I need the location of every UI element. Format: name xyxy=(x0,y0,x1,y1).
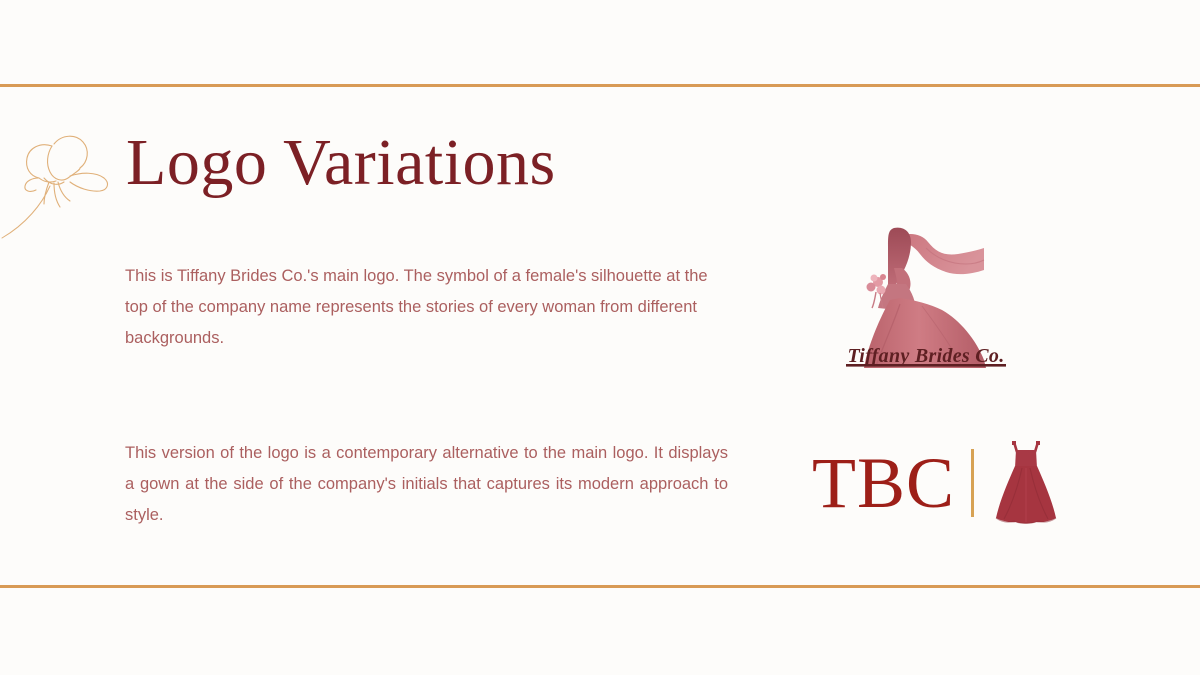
page-title: Logo Variations xyxy=(126,128,556,197)
gown-icon xyxy=(992,438,1060,528)
main-logo: Tiffany Brides Co. xyxy=(838,218,1014,380)
alternate-logo-initials: TBC xyxy=(812,447,955,519)
bottom-accent-rule xyxy=(0,585,1200,588)
top-accent-rule xyxy=(0,84,1200,87)
logo-divider xyxy=(971,449,974,517)
slide-canvas: Logo Variations This is Tiffany Brides C… xyxy=(0,0,1200,675)
description-alternate-logo: This version of the logo is a contempora… xyxy=(125,438,728,531)
main-logo-wordmark: Tiffany Brides Co. xyxy=(838,345,1014,368)
description-main-logo: This is Tiffany Brides Co.'s main logo. … xyxy=(125,261,728,354)
rose-line-art-icon xyxy=(0,112,127,247)
alternate-logo: TBC xyxy=(812,437,1062,529)
